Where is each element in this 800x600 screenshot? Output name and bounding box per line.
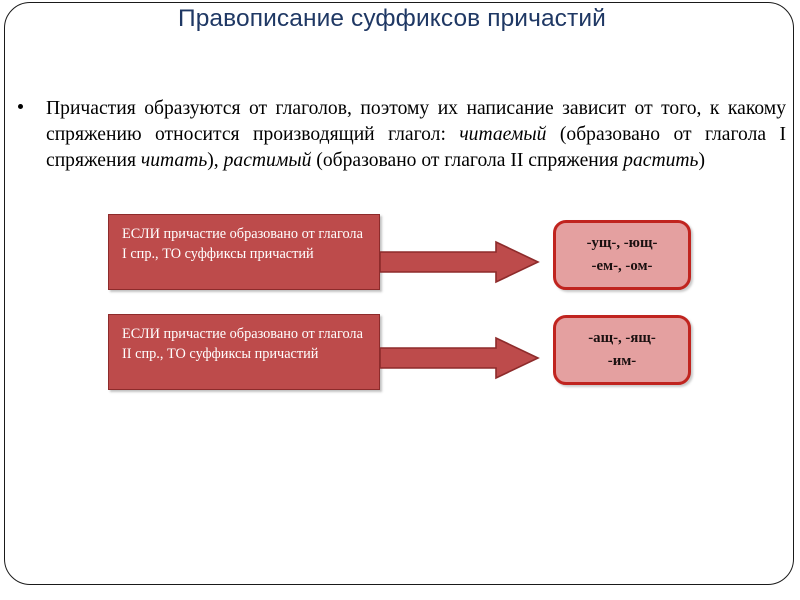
- paragraph-emphasis-4: растить: [623, 150, 698, 171]
- right-arrow-icon-second: [378, 336, 540, 380]
- paragraph-segment-5: ): [698, 150, 705, 171]
- bullet-paragraph: Причастия образуются от глаголов, поэтом…: [46, 96, 786, 174]
- suffix-result-box-second-conjugation[interactable]: -ащ-, -ящ- -им-: [553, 315, 691, 385]
- right-arrow-icon-first: [378, 240, 540, 284]
- list-item: Причастия образуются от глаголов, поэтом…: [14, 96, 786, 174]
- paragraph-emphasis-2: читать: [141, 150, 207, 171]
- paragraph-segment-4: (образовано от глагола II спряжения: [311, 150, 623, 171]
- presentation-slide: Правописание суффиксов причастий Причаст…: [0, 0, 800, 600]
- suffix-line-1: -ащ-, -ящ-: [588, 327, 656, 350]
- body-content: Причастия образуются от глаголов, поэтом…: [14, 96, 786, 174]
- suffix-rules-diagram: ЕСЛИ причастие образовано от глагола I с…: [0, 0, 800, 600]
- page-title: Правописание суффиксов причастий: [178, 4, 658, 33]
- condition-box-second-conjugation[interactable]: ЕСЛИ причастие образовано от глагола II …: [108, 314, 380, 390]
- bullet-dot-icon: [18, 104, 23, 109]
- paragraph-segment-3: ),: [207, 150, 223, 171]
- suffix-line-1: -ущ-, -ющ-: [587, 232, 658, 255]
- paragraph-emphasis-1: читаемый: [459, 124, 546, 145]
- suffix-result-box-first-conjugation[interactable]: -ущ-, -ющ- -ем-, -ом-: [553, 220, 691, 290]
- slide-border-frame: [4, 2, 794, 585]
- suffix-line-2: -ем-, -ом-: [592, 255, 653, 278]
- suffix-line-2: -им-: [608, 350, 636, 373]
- paragraph-emphasis-3: растимый: [224, 150, 312, 171]
- condition-box-first-conjugation[interactable]: ЕСЛИ причастие образовано от глагола I с…: [108, 214, 380, 290]
